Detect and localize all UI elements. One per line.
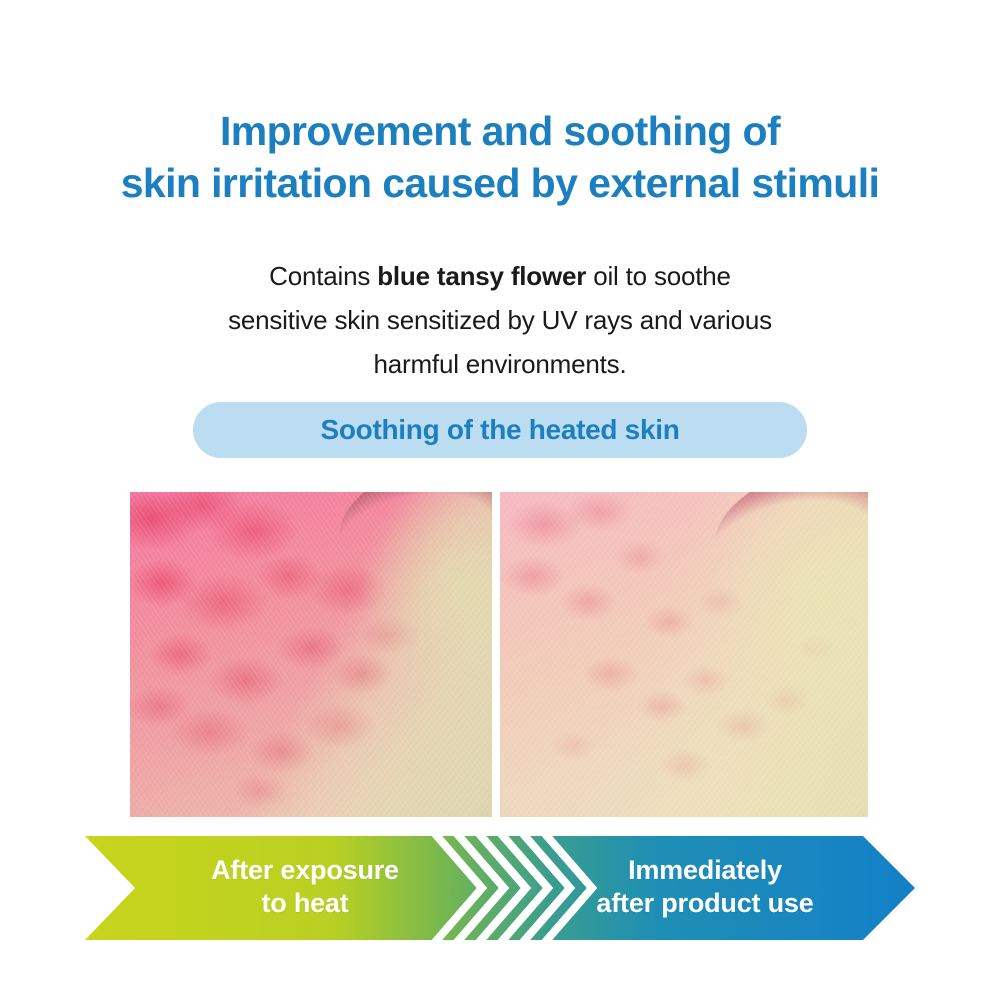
ingredient-highlight: blue tansy flower: [377, 261, 586, 291]
before-vignette: [130, 492, 492, 817]
page-title: Improvement and soothing of skin irritat…: [0, 105, 1000, 209]
after-vignette: [500, 492, 868, 817]
banner-after-line-1: Immediately: [545, 854, 865, 887]
banner-after-line-2: after product use: [545, 887, 865, 920]
body-copy-line-1-after: oil to soothe: [586, 261, 731, 291]
headline-line-1: Improvement and soothing of: [0, 105, 1000, 157]
banner-before-line-1: After exposure: [155, 854, 455, 887]
claim-badge: Soothing of the heated skin: [193, 402, 807, 458]
body-copy-line-1: Contains blue tansy flower oil to soothe: [140, 254, 860, 298]
body-copy-line-3: harmful environments.: [140, 342, 860, 386]
before-photo: [130, 492, 492, 817]
body-copy: Contains blue tansy flower oil to soothe…: [140, 254, 860, 386]
claim-badge-label: Soothing of the heated skin: [320, 414, 679, 446]
progression-banner: After exposure to heat Immediately after…: [85, 836, 915, 940]
promo-panel: Improvement and soothing of skin irritat…: [0, 0, 1000, 1000]
headline-line-2: skin irritation caused by external stimu…: [0, 157, 1000, 209]
banner-before-line-2: to heat: [155, 887, 455, 920]
body-copy-line-1-before: Contains: [269, 261, 377, 291]
banner-before-label: After exposure to heat: [155, 854, 455, 920]
before-after-comparison: [130, 492, 868, 817]
banner-after-label: Immediately after product use: [545, 854, 865, 920]
body-copy-line-2: sensitive skin sensitized by UV rays and…: [140, 298, 860, 342]
after-photo: [500, 492, 868, 817]
